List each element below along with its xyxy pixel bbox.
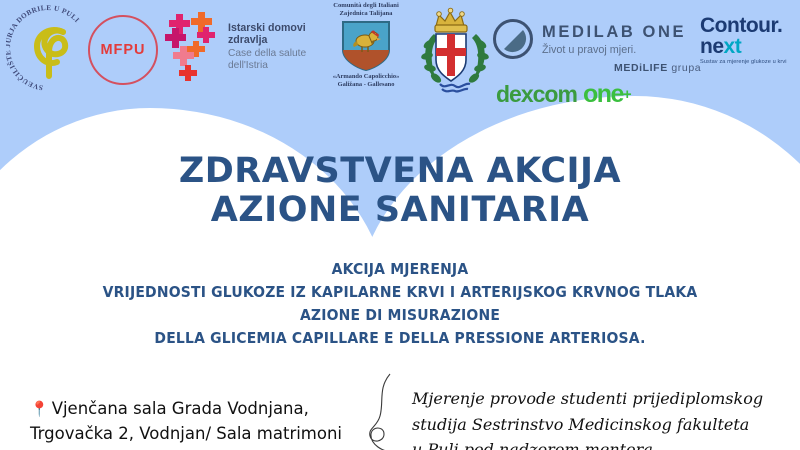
circle-wedge-icon [492, 18, 534, 60]
university-of-pula-logo: SVEUČILIŠTE JURJA DOBRILE U PULI [6, 4, 90, 92]
mfpu-logo: MFPU [88, 14, 160, 86]
mfpu-label: MFPU [100, 42, 145, 58]
idz-line-2: zdravlja [228, 34, 306, 46]
medilife-grupa-label: MEDiLIFE grupa [614, 62, 701, 74]
medilife-rest: grupa [671, 62, 701, 74]
dexcom-plus-icon: + [623, 86, 632, 103]
performers-block: Mjerenje provode studenti prijediplomsko… [412, 386, 792, 450]
subtitle-line-1: AKCIJA MJERENJA [0, 258, 800, 281]
contour-ne: ne [700, 35, 724, 58]
medilife-bold: MEDiLIFE [614, 62, 668, 74]
contour-xt: xt [724, 35, 742, 58]
performers-line-2: studija Sestrinstvo Medicinskog fakultet… [412, 412, 792, 438]
dexcom-one-plus-logo: dexcom one + [496, 80, 632, 109]
performers-line-3: u Puli pod nadzorom mentora. [412, 437, 792, 450]
crowned-shield-icon [416, 4, 494, 100]
grad-vodnjan-coat-of-arms [416, 4, 494, 100]
idz-line-3: Case della salute [228, 48, 306, 60]
performers-line-1: Mjerenje provode studenti prijediplomsko… [412, 386, 792, 412]
poster-subtitle: AKCIJA MJERENJA VRIJEDNOSTI GLUKOZE IZ K… [0, 258, 800, 350]
subtitle-line-4: DELLA GLICEMIA CAPILLARE E DELLA PRESSIO… [0, 327, 800, 350]
sponsor-logo-strip: SVEUČILIŠTE JURJA DOBRILE U PULI MFPU [0, 0, 800, 112]
location-pin-icon: 📍 [30, 400, 49, 418]
medilab-title: MEDILAB ONE [542, 23, 686, 42]
headline-italian: AZIONE SANITARIA [0, 191, 800, 230]
contour-next-logo: Contour. next Sustav za mjerenje glukoze… [700, 16, 787, 65]
dexcom-word: dexcom [496, 81, 577, 108]
poster-canvas: SVEUČILIŠTE JURJA DOBRILE U PULI MFPU [0, 0, 800, 450]
ci-head-2: Zajednica Talijana [318, 10, 414, 18]
ci-head-1: Comunità degli Italiani [318, 2, 414, 10]
ci-foot-1: «Armando Capolicchio» [318, 73, 414, 80]
headline-croatian: ZDRAVSTVENA AKCIJA [0, 152, 800, 191]
medilab-tagline: Život u pravoj mjeri. [542, 44, 686, 56]
dexcom-one-word: one [583, 80, 623, 109]
contour-line-2: next [700, 36, 787, 57]
cross-cluster-icon [163, 12, 221, 82]
idz-line-1: Istarski domovi [228, 22, 306, 34]
poster-headline: ZDRAVSTVENA AKCIJA AZIONE SANITARIA [0, 152, 800, 230]
location-block: 📍Vjenčana sala Grada Vodnjana, Trgovačka… [30, 396, 370, 446]
medilab-one-logo: MEDILAB ONE Život u pravoj mjeri. [492, 18, 686, 60]
idz-line-4: dell'Istria [228, 60, 306, 72]
subtitle-line-3: AZIONE DI MISURAZIONE [0, 304, 800, 327]
ci-foot-2: Galižana - Gallesano [318, 81, 414, 88]
subtitle-line-2: VRIJEDNOSTI GLUKOZE IZ KAPILARNE KRVI I … [0, 281, 800, 304]
location-line-1: Vjenčana sala Grada Vodnjana, [52, 399, 309, 418]
istarski-domovi-zdravlja-logo: Istarski domovi zdravlja Case della salu… [163, 12, 306, 82]
comunita-degli-italiani-logo: Comunità degli Italiani Zajednica Talija… [318, 2, 414, 88]
rooster-shield-icon [339, 19, 393, 71]
mfpu-circle-icon: MFPU [88, 15, 158, 85]
contour-line-1: Contour. [700, 16, 787, 36]
location-line-2: Trgovačka 2, Vodnjan/ Sala matrimoni [30, 421, 370, 446]
contour-tagline: Sustav za mjerenje glukoze u krvi [700, 59, 787, 65]
spiral-mark-icon [23, 18, 75, 80]
decorative-swirl-divider [364, 372, 408, 450]
